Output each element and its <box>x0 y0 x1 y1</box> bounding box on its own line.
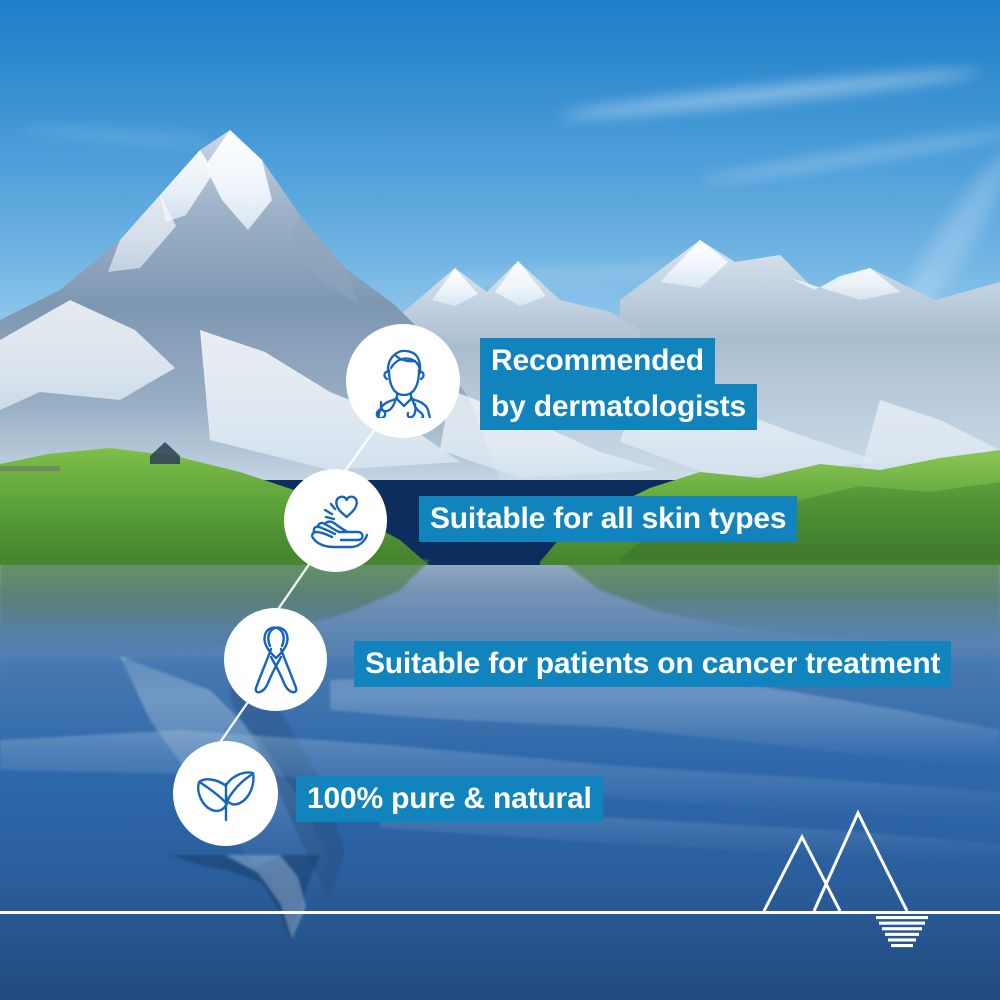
feature-badge-doctor[interactable] <box>346 324 460 438</box>
mountain-peaks-logo <box>740 808 970 948</box>
feature-label-1-line-1: Suitable for all skin types <box>419 496 797 542</box>
doctor-icon <box>366 344 440 418</box>
banner-root: Recommended by dermatologists Suitable f… <box>0 0 1000 1000</box>
leaf-plant-icon <box>190 758 262 830</box>
feature-badge-hand-heart[interactable] <box>284 469 387 572</box>
awareness-ribbon-icon <box>241 622 311 698</box>
feature-label-0-line-2: by dermatologists <box>480 384 757 430</box>
logo-reflection <box>876 916 928 948</box>
feature-label-3: 100% pure & natural <box>296 776 603 822</box>
feature-label-0-line-1: Recommended <box>480 338 715 384</box>
feature-label-0: Recommended by dermatologists <box>480 338 757 430</box>
feature-badge-ribbon[interactable] <box>224 608 327 711</box>
feature-label-3-line-1: 100% pure & natural <box>296 776 603 822</box>
feature-label-2: Suitable for patients on cancer treatmen… <box>354 641 951 687</box>
peak-reflection <box>130 855 450 945</box>
feature-label-1: Suitable for all skin types <box>419 496 797 542</box>
feature-label-2-line-1: Suitable for patients on cancer treatmen… <box>354 641 951 687</box>
hand-heart-icon <box>301 486 371 556</box>
feature-badge-leaf[interactable] <box>173 741 278 846</box>
